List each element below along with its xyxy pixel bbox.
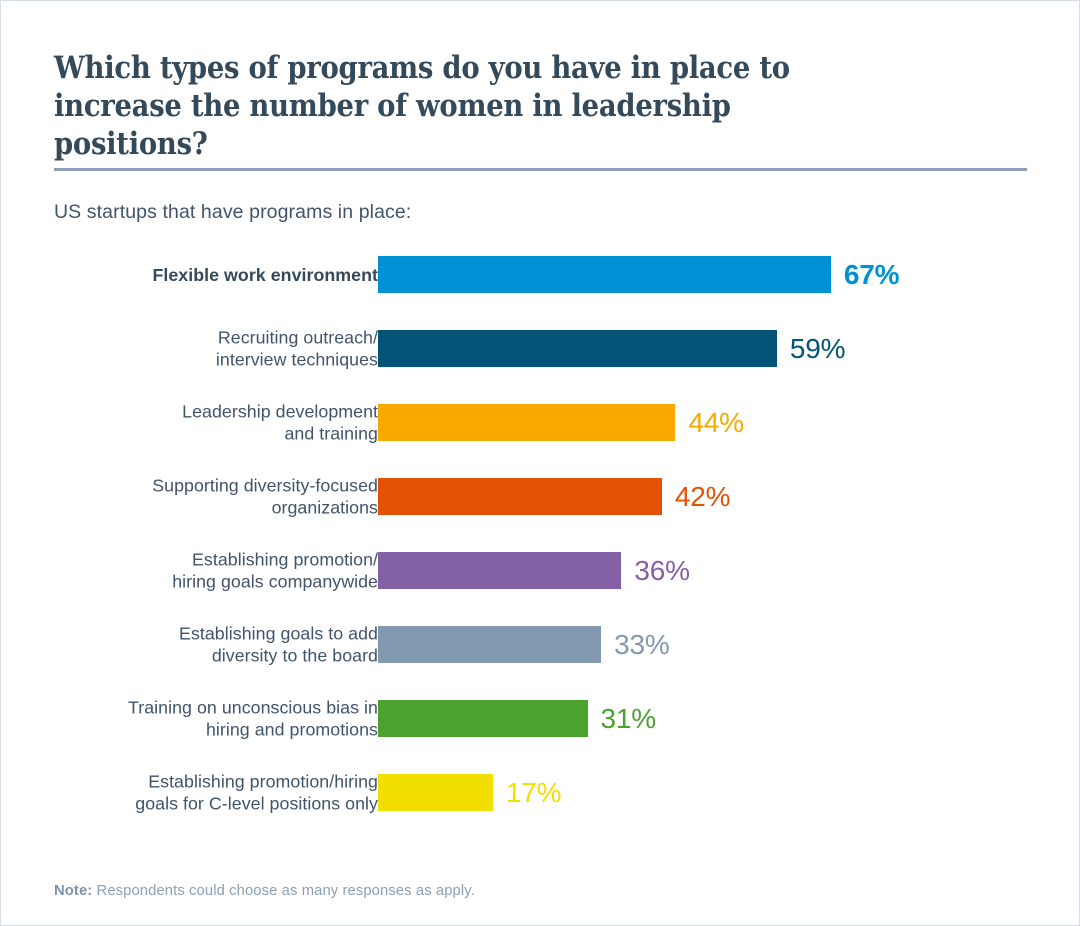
bar [378,552,621,589]
chart-row-inner: Establishing promotion/ hiring goals com… [1,552,1080,589]
chart-page: Which types of programs do you have in p… [0,0,1080,926]
chart-row: Leadership development and training44% [1,404,1080,478]
chart-row-inner: Training on unconscious bias in hiring a… [1,700,1080,737]
chart-row: Flexible work environment67% [1,256,1080,330]
category-label: Establishing promotion/hiring goals for … [48,770,378,815]
header-divider [54,168,1027,171]
category-label: Establishing promotion/ hiring goals com… [48,548,378,593]
value-label: 31% [601,705,656,733]
category-label: Recruiting outreach/ interview technique… [48,326,378,371]
chart-row-inner: Leadership development and training44% [1,404,1080,441]
chart-row: Establishing promotion/hiring goals for … [1,774,1080,848]
bar-group: 42% [378,478,730,515]
note-text: Respondents could choose as many respons… [97,883,475,899]
category-label: Training on unconscious bias in hiring a… [48,696,378,741]
bar-group: 67% [378,256,899,293]
bar-group: 44% [378,404,744,441]
page-title: Which types of programs do you have in p… [54,49,891,163]
bar [378,404,675,441]
bar-group: 17% [378,774,561,811]
chart-row: Recruiting outreach/ interview technique… [1,330,1080,404]
value-label: 67% [844,261,899,289]
value-label: 44% [688,409,743,437]
chart-row: Establishing promotion/ hiring goals com… [1,552,1080,626]
category-label: Supporting diversity-focused organizatio… [48,474,378,519]
value-label: 33% [614,631,669,659]
chart-row-inner: Establishing promotion/hiring goals for … [1,774,1080,811]
bar [378,774,493,811]
bar [378,330,777,367]
bar-group: 31% [378,700,656,737]
chart-row-inner: Establishing goals to add diversity to t… [1,626,1080,663]
chart-row-inner: Recruiting outreach/ interview technique… [1,330,1080,367]
value-label: 42% [675,483,730,511]
value-label: 59% [790,335,845,363]
bar-group: 33% [378,626,670,663]
category-label: Flexible work environment [48,263,378,286]
value-label: 17% [506,779,561,807]
chart-row: Establishing goals to add diversity to t… [1,626,1080,700]
category-label: Leadership development and training [48,400,378,445]
bar [378,700,588,737]
chart-note: Note: Respondents could choose as many r… [54,881,475,901]
bar [378,626,601,663]
value-label: 36% [634,557,689,585]
bar-chart: Flexible work environment67%Recruiting o… [1,256,1080,848]
chart-row-inner: Flexible work environment67% [1,256,1080,293]
bar-group: 36% [378,552,690,589]
chart-subtitle: US startups that have programs in place: [54,200,411,224]
chart-row-inner: Supporting diversity-focused organizatio… [1,478,1080,515]
category-label: Establishing goals to add diversity to t… [48,622,378,667]
note-label: Note: [54,883,92,899]
bar-group: 59% [378,330,845,367]
bar [378,478,662,515]
bar [378,256,831,293]
chart-row: Supporting diversity-focused organizatio… [1,478,1080,552]
chart-row: Training on unconscious bias in hiring a… [1,700,1080,774]
